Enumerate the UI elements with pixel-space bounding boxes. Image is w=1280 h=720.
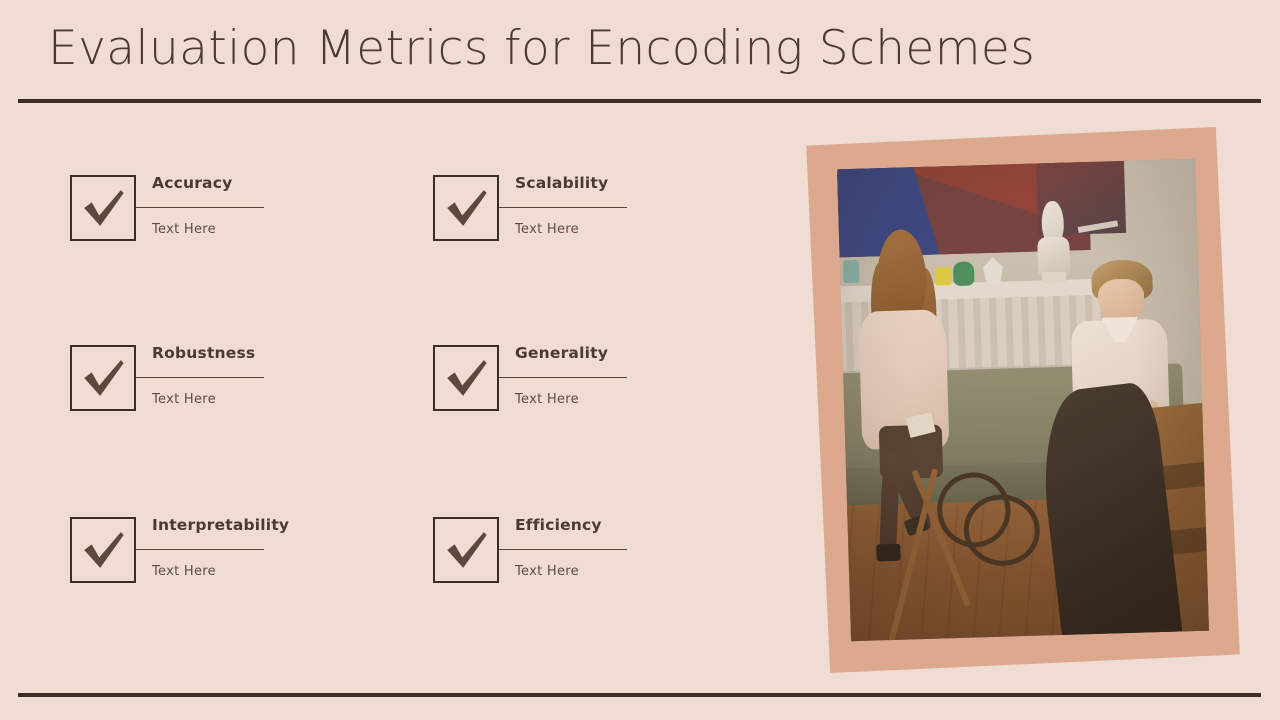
check-icon [435, 519, 497, 581]
checklist-item-label: Scalability [515, 174, 608, 192]
check-icon [435, 177, 497, 239]
coffee-table [881, 462, 1071, 641]
checklist-item-sub: Text Here [515, 222, 579, 237]
check-icon [435, 347, 497, 409]
checklist-item[interactable]: Generality Text Here [433, 345, 733, 425]
check-icon [72, 519, 134, 581]
checklist-item-sub: Text Here [152, 392, 216, 407]
plaster-bust [1035, 201, 1071, 284]
item-connector-line [136, 377, 264, 378]
table-leg-left [886, 469, 939, 641]
item-connector-line [499, 377, 627, 378]
check-box[interactable] [70, 175, 136, 241]
check-box[interactable] [70, 517, 136, 583]
photo-scene [837, 159, 1209, 641]
slide-canvas: Evaluation Metrics for Encoding Schemes … [0, 0, 1280, 720]
item-connector-line [499, 549, 627, 550]
metrics-checklist: Accuracy Text Here Scalability Text Here… [0, 0, 800, 720]
checklist-item[interactable]: Scalability Text Here [433, 175, 733, 255]
checklist-item[interactable]: Efficiency Text Here [433, 517, 733, 597]
checklist-item-sub: Text Here [152, 222, 216, 237]
checklist-item-sub: Text Here [515, 392, 579, 407]
checklist-item[interactable]: Accuracy Text Here [70, 175, 370, 255]
checklist-item-sub: Text Here [515, 564, 579, 579]
check-box[interactable] [433, 345, 499, 411]
item-connector-line [136, 549, 264, 550]
checklist-item-sub: Text Here [152, 564, 216, 579]
bust-base [1043, 271, 1067, 283]
checklist-item[interactable]: Robustness Text Here [70, 345, 370, 425]
item-connector-line [136, 207, 264, 208]
checklist-item-label: Interpretability [152, 516, 289, 534]
check-box[interactable] [433, 175, 499, 241]
check-box[interactable] [433, 517, 499, 583]
checklist-item-label: Efficiency [515, 516, 602, 534]
check-icon [72, 347, 134, 409]
woman-hair-top [875, 228, 927, 321]
bust-body [1038, 237, 1070, 276]
checklist-item-label: Generality [515, 344, 608, 362]
checklist-item[interactable]: Interpretability Text Here [70, 517, 370, 597]
photo-card [806, 127, 1240, 673]
photo-image [837, 159, 1209, 641]
checklist-item-label: Accuracy [152, 174, 232, 192]
checklist-item-label: Robustness [152, 344, 255, 362]
check-box[interactable] [70, 345, 136, 411]
check-icon [72, 177, 134, 239]
item-connector-line [499, 207, 627, 208]
